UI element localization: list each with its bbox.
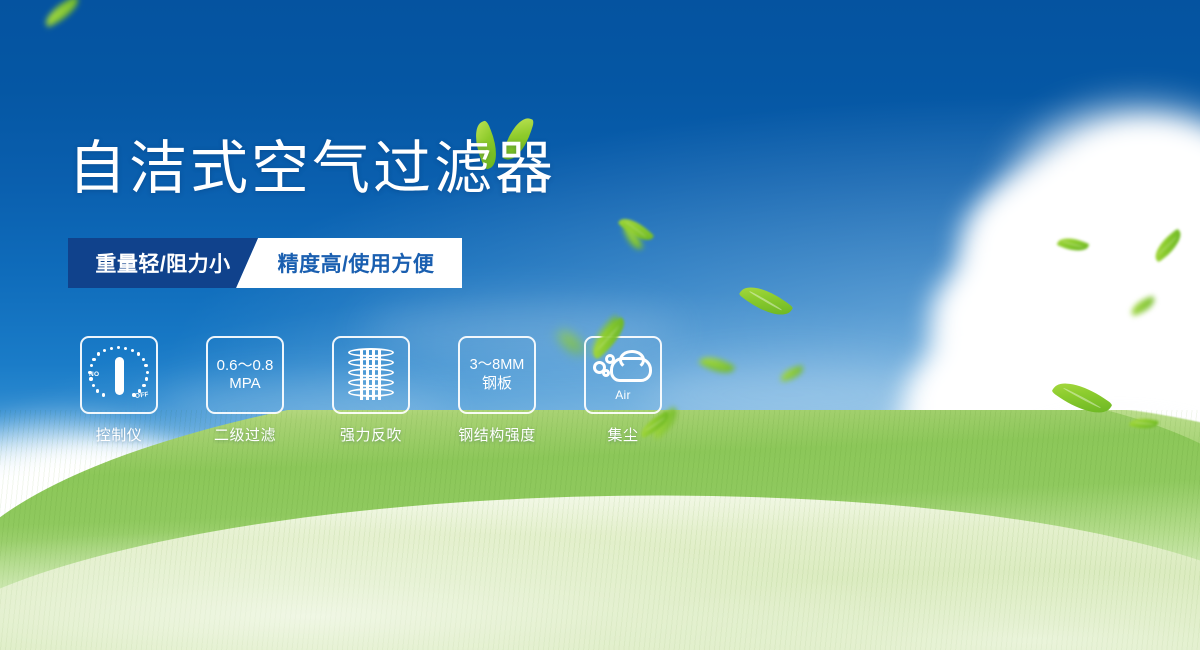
air-label: Air bbox=[592, 388, 654, 402]
feature-icon-row: NO OFF 控制仪 0.6～0.8 MPA 二级过滤 bbox=[80, 336, 662, 445]
subtitle-right-panel: 精度高/使用方便 bbox=[236, 238, 462, 288]
page-title: 自洁式空气过滤器 bbox=[68, 140, 556, 198]
feature-box: NO OFF bbox=[80, 336, 158, 414]
pressure-value-line2: MPA bbox=[229, 375, 260, 393]
feature-label: 控制仪 bbox=[96, 424, 143, 445]
subtitle-right-text: 精度高/使用方便 bbox=[264, 248, 435, 278]
feature-item-control-instrument[interactable]: NO OFF 控制仪 bbox=[80, 336, 158, 445]
dial-min-label: NO bbox=[89, 371, 99, 378]
dial-max-label: OFF bbox=[135, 391, 150, 400]
feature-label: 钢结构强度 bbox=[458, 424, 536, 445]
feature-box: 0.6～0.8 MPA bbox=[206, 336, 284, 414]
feature-box bbox=[332, 336, 410, 414]
dial-gauge-icon: NO OFF bbox=[88, 346, 150, 404]
feature-label: 二级过滤 bbox=[214, 424, 276, 445]
feature-item-steel-strength[interactable]: 3～8MM 钢板 钢结构强度 bbox=[458, 336, 536, 445]
subtitle-left-panel: 重量轻/阻力小 bbox=[68, 238, 258, 288]
feature-label: 集尘 bbox=[607, 424, 638, 445]
steel-value-line1: 3～8MM bbox=[470, 357, 525, 375]
pressure-value-line1: 0.6～0.8 bbox=[217, 357, 274, 375]
subtitle-left-text: 重量轻/阻力小 bbox=[95, 248, 230, 278]
feature-item-secondary-filter[interactable]: 0.6～0.8 MPA 二级过滤 bbox=[206, 336, 284, 445]
product-banner: 自洁式空气过滤器 重量轻/阻力小 精度高/使用方便 bbox=[0, 0, 1200, 650]
filter-coil-icon bbox=[348, 346, 394, 404]
feature-label: 强力反吹 bbox=[340, 424, 402, 445]
air-cloud-icon: Air bbox=[592, 349, 654, 401]
feature-box: 3～8MM 钢板 bbox=[458, 336, 536, 414]
steel-value-line2: 钢板 bbox=[482, 375, 512, 393]
subtitle-bar: 重量轻/阻力小 精度高/使用方便 bbox=[68, 238, 462, 288]
feature-item-strong-backblow[interactable]: 强力反吹 bbox=[332, 336, 410, 445]
